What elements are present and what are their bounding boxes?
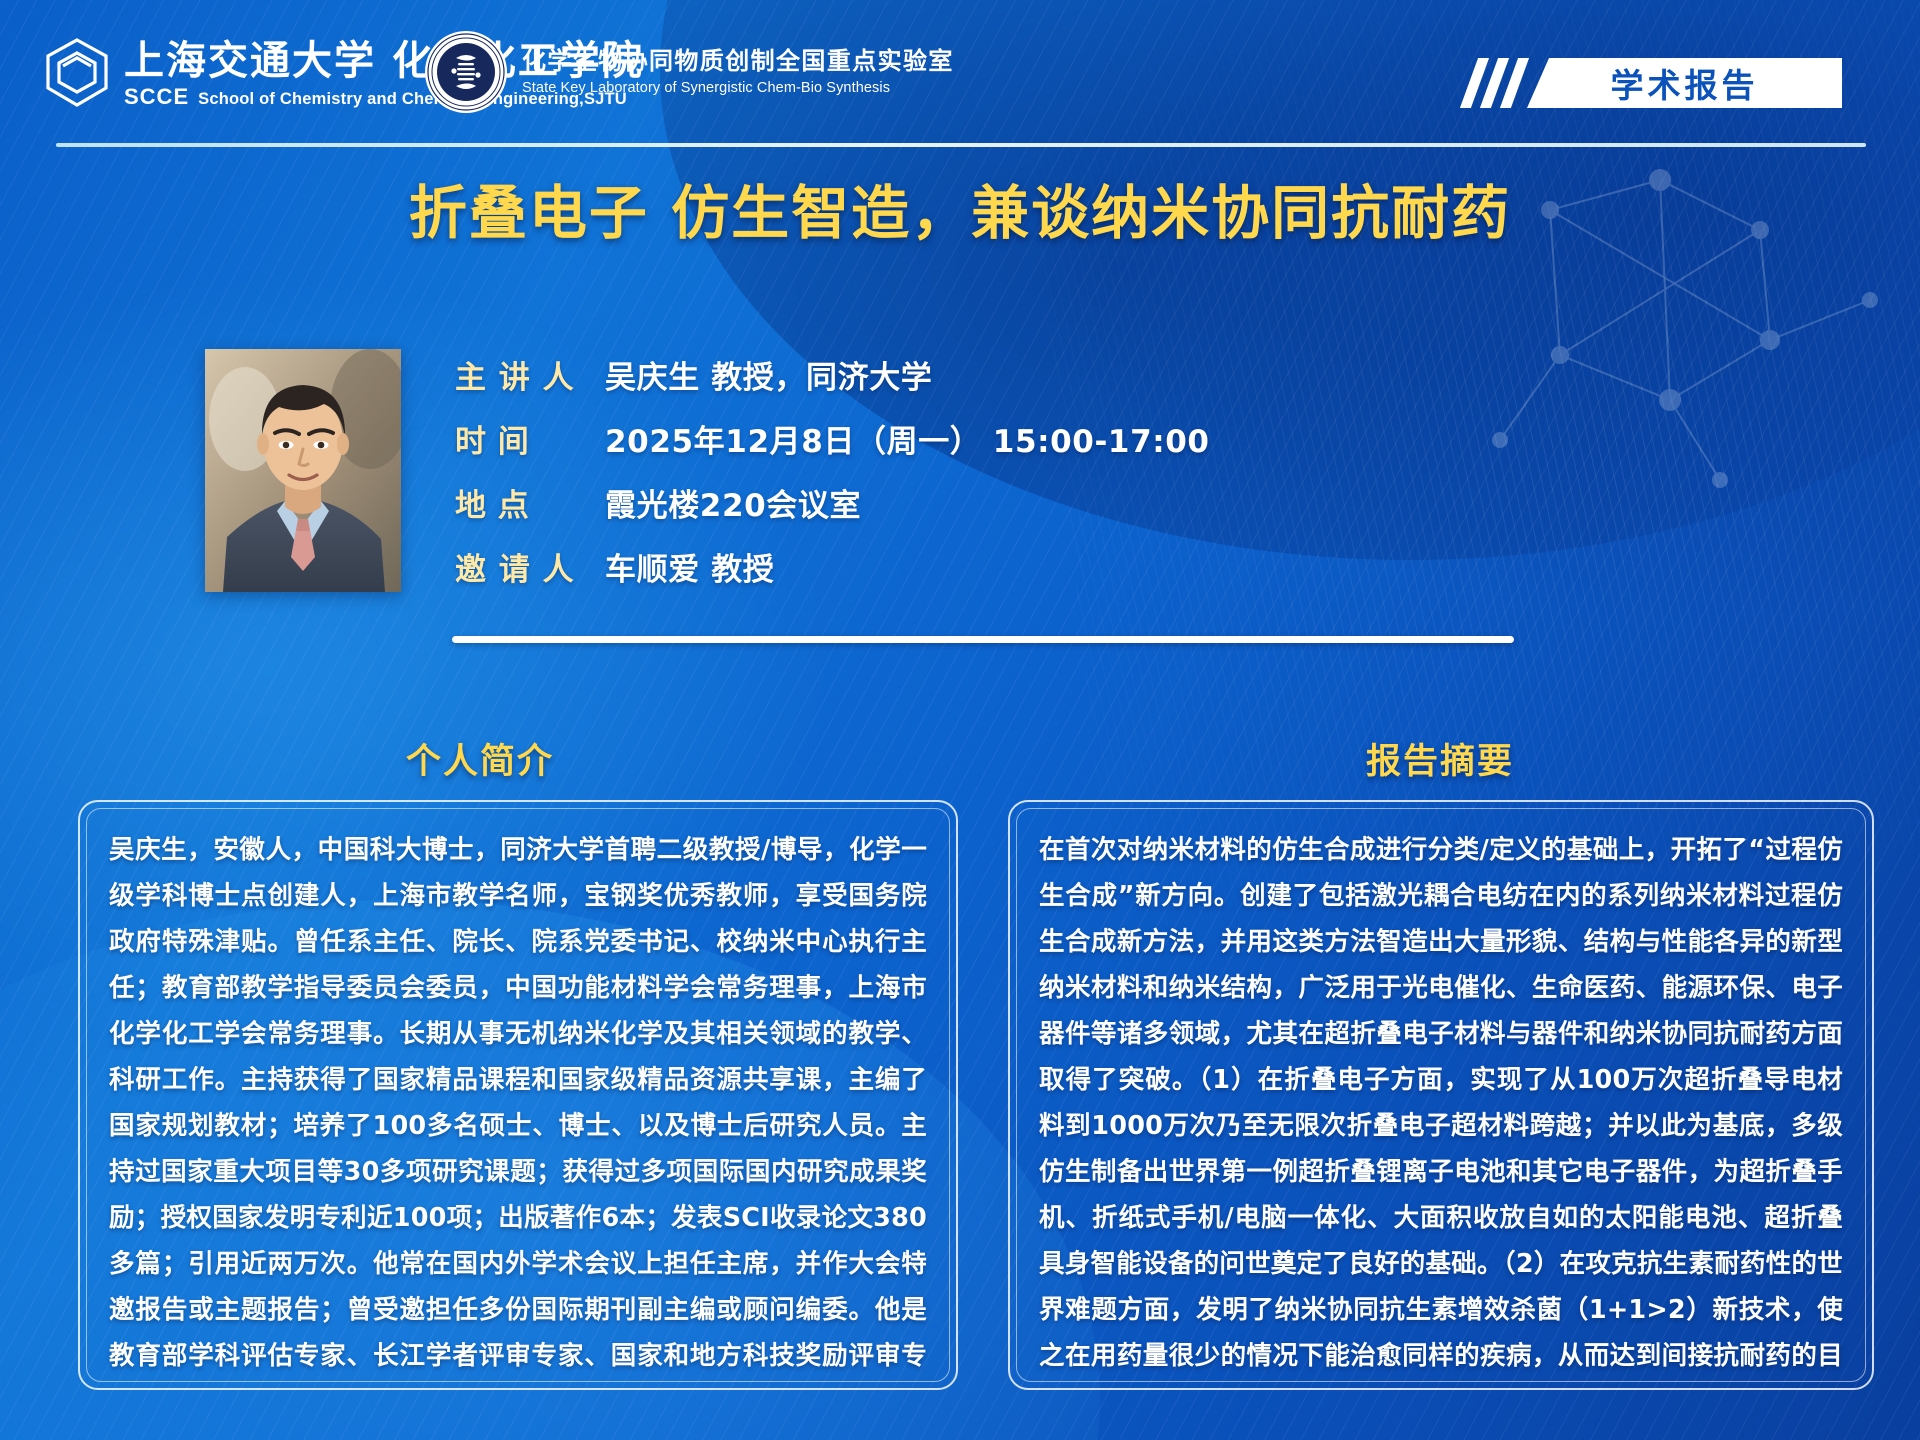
abstract-heading: 报告摘要	[960, 733, 1920, 784]
info-row-speaker: 主 讲 人 吴庆生 教授，同济大学	[455, 352, 1455, 397]
info-value-location: 霞光楼220会议室	[605, 480, 861, 525]
page-title: 折叠电子 仿生智造，兼谈纳米协同抗耐药	[0, 166, 1920, 250]
lab-logo: 化学生物协同物质创制全国重点实验室 State Key Laboratory o…	[424, 30, 954, 114]
bio-text: 吴庆生，安徽人，中国科大博士，同济大学首聘二级教授/博导，化学一级学科博士点创建…	[109, 827, 927, 1382]
hexagon-logo-icon	[40, 36, 114, 112]
info-value-speaker: 吴庆生 教授，同济大学	[605, 352, 932, 397]
avatar	[205, 349, 401, 592]
header: 上海交通大学 化学化工学院 SCCE School of Chemistry a…	[0, 0, 1920, 150]
bio-panel: 吴庆生，安徽人，中国科大博士，同济大学首聘二级教授/博导，化学一级学科博士点创建…	[78, 800, 958, 1390]
lab-name-en: State Key Laboratory of Synergistic Chem…	[522, 78, 954, 98]
scce-abbr: SCCE	[124, 84, 189, 110]
poster-canvas: 上海交通大学 化学化工学院 SCCE School of Chemistry a…	[0, 0, 1920, 1440]
badge-label: 学术报告	[1611, 59, 1759, 107]
info-value-host: 车顺爱 教授	[605, 544, 774, 589]
slash-decoration-icon	[1469, 58, 1529, 108]
lab-seal-icon	[424, 30, 508, 114]
info-label-speaker: 主 讲 人	[455, 352, 605, 397]
abstract-panel: 在首次对纳米材料的仿生合成进行分类/定义的基础上，开拓了“过程仿生合成”新方向。…	[1008, 800, 1874, 1390]
header-divider	[56, 143, 1866, 147]
bio-heading: 个人简介	[0, 733, 960, 784]
speaker-divider	[452, 636, 1514, 643]
abstract-text: 在首次对纳米材料的仿生合成进行分类/定义的基础上，开拓了“过程仿生合成”新方向。…	[1039, 827, 1843, 1382]
info-row-location: 地 点 霞光楼220会议室	[455, 480, 1455, 525]
lab-name-cn: 化学生物协同物质创制全国重点实验室	[522, 46, 954, 76]
info-row-host: 邀 请 人 车顺爱 教授	[455, 544, 1455, 589]
info-label-time: 时 间	[455, 416, 605, 461]
info-label-host: 邀 请 人	[455, 544, 605, 589]
report-type-badge: 学术报告	[1469, 58, 1842, 108]
sjtu-name-cn: 上海交通大学	[124, 37, 376, 84]
info-value-time: 2025年12月8日（周一） 15:00-17:00	[605, 416, 1210, 461]
speaker-photo	[205, 349, 401, 592]
info-label-location: 地 点	[455, 480, 605, 525]
info-row-time: 时 间 2025年12月8日（周一） 15:00-17:00	[455, 416, 1455, 461]
speaker-info: 主 讲 人 吴庆生 教授，同济大学 时 间 2025年12月8日（周一） 15:…	[455, 352, 1455, 608]
